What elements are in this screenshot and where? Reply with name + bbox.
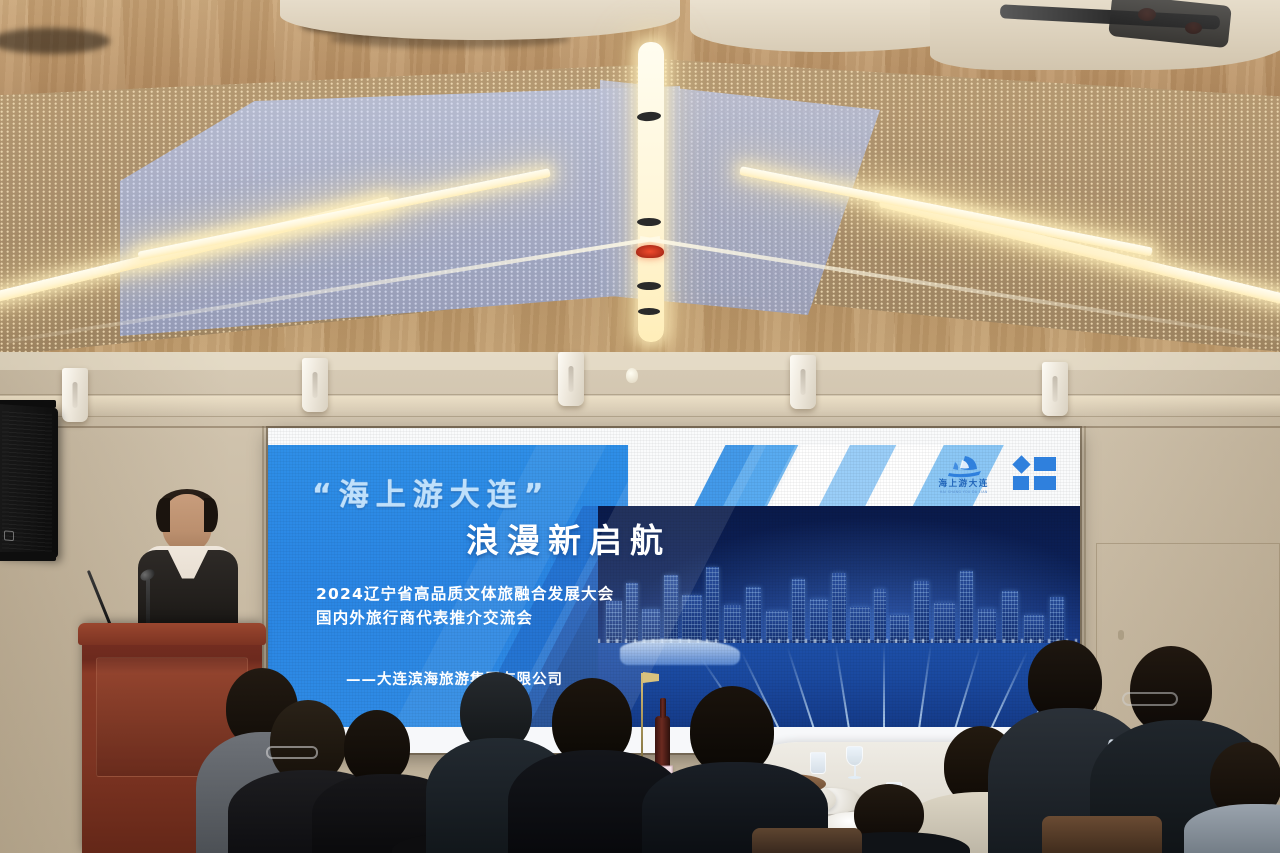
wine-glass-stem [854,765,856,776]
wall-loudspeaker [0,404,58,558]
ceiling-corbel-3 [558,352,584,406]
slide-subtitle-line-2: 国内外旅行商代表推介交流会 [316,606,533,628]
sail-boat-icon [943,454,985,478]
logo-tile-square-2 [1013,476,1029,490]
ceiling-pendant-bulb [626,368,638,383]
chair-back [752,828,862,853]
harbor-building [746,587,761,645]
ceiling-light-spine [638,42,664,342]
harbor-building [1050,597,1064,645]
haishangyou-dalian-logo: 海上游大连 HAI SHANG YOU DA LIAN [938,454,989,494]
slide-title-line-2: 浪漫新启航 [466,514,671,562]
logo-tile-diamond [1012,455,1030,473]
audience-head [344,710,410,784]
ceiling-corbel-5 [1042,362,1068,416]
door-knob[interactable] [1118,630,1124,640]
harbor-building [1002,591,1018,645]
table-wine-glass [846,746,863,780]
logo-tile-square-1 [1034,457,1056,471]
ceiling-corbel-1 [62,368,88,422]
audience-eyeglasses-icon [1122,692,1178,706]
harbor-building [874,589,886,645]
podium-top-lip [78,623,266,645]
wall-reveal-line-1 [0,394,1280,395]
emergency-light-red [636,245,664,258]
ceiling [0,0,1280,360]
harbor-light-ray [918,644,932,729]
audience-eyeglasses-icon [266,746,318,759]
harbor-building [960,571,973,645]
ceiling-spine-fixture-2 [637,218,661,226]
slide-logo-lockup: 海上游大连 HAI SHANG YOU DA LIAN [938,454,1056,494]
harbor-building [792,579,805,645]
ceiling-corbel-2 [302,358,328,412]
slide-subtitle-line-1: 2024辽宁省高品质文体旅融合发展大会 [316,582,614,604]
partner-tile-logo [1013,457,1056,490]
chair-back [1042,816,1162,853]
audience-person [1200,742,1280,853]
ceiling-corbel-4 [790,355,816,409]
harbor-building [832,573,846,645]
speaker-bracket-bottom [0,552,56,561]
harbor-light-ray [954,646,981,729]
harbor-light-ray [835,644,850,729]
wine-glass-bowl [846,746,863,766]
presenter-hair-left [156,498,170,532]
slide-title-line-1: “海上游大连” [312,470,550,514]
harbor-light-ray [883,643,885,729]
logo-english-name: HAI SHANG YOU DA LIAN [940,491,988,494]
wall-reveal-line-2 [0,416,1280,417]
conference-photo-scene: “海上游大连” 浪漫新启航 2024辽宁省高品质文体旅融合发展大会 国内外旅行商… [0,0,1280,853]
presenter-hair-right [204,498,218,532]
harbor-building [914,581,929,645]
ceiling-spine-fixture-3 [637,282,661,290]
logo-tile-square-3 [1034,476,1056,490]
speaker-brand-badge [4,530,14,541]
ceiling-spine-fixture-4 [638,308,660,315]
logo-chinese-name: 海上游大连 [938,480,989,489]
wall-light-cove [0,396,1280,416]
wine-glass-foot [848,776,861,779]
wall-upper-band [0,352,1280,370]
harbor-building [706,567,719,645]
